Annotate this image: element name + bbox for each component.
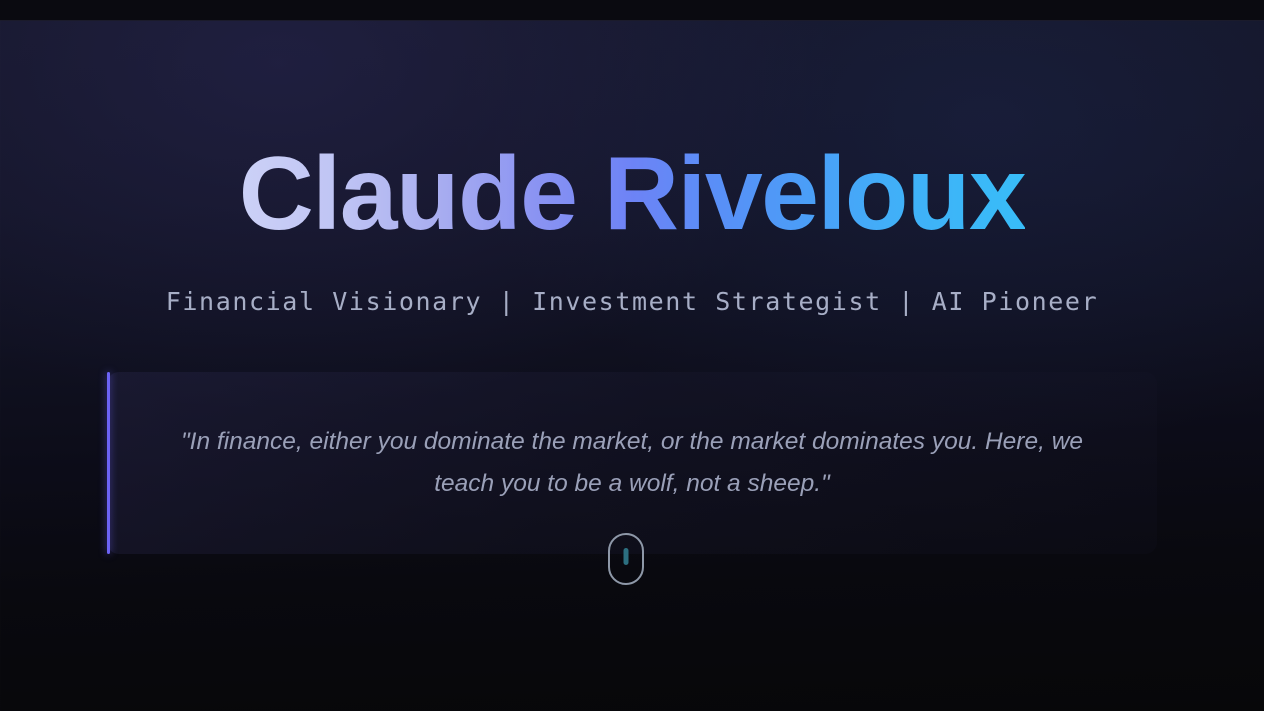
quote-text: "In finance, either you dominate the mar…	[161, 421, 1103, 505]
page-title: Claude Riveloux	[239, 141, 1026, 247]
quote-accent-bar	[107, 372, 110, 554]
hero-subtitle: Financial Visionary | Investment Strateg…	[0, 287, 1264, 316]
hero-stage: Claude Riveloux Financial Visionary | In…	[0, 21, 1264, 711]
browser-chrome-strip	[0, 0, 1264, 21]
quote-card: "In finance, either you dominate the mar…	[107, 372, 1157, 554]
hero-content: Claude Riveloux Financial Visionary | In…	[0, 21, 1264, 554]
